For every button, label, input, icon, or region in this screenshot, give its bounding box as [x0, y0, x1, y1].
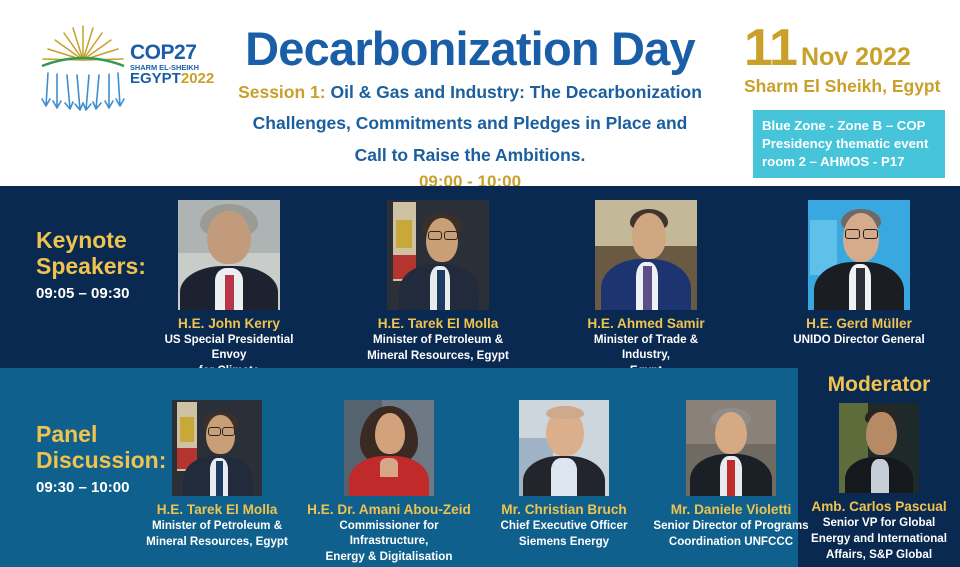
- keynote-speaker-card: H.E. Ahmed Samir Minister of Trade & Ind…: [570, 200, 722, 379]
- keynote-section-label: Keynote Speakers: 09:05 – 09:30: [36, 228, 146, 302]
- page-title: Decarbonization Day: [196, 24, 744, 73]
- panel-speaker-card: H.E. Dr. Amani Abou-Zeid Commissioner fo…: [300, 400, 478, 567]
- keynote-label-line-2: Speakers:: [36, 254, 146, 280]
- speaker-role-line: Minister of Petroleum &: [145, 519, 289, 534]
- keynote-speaker-card: H.E. Tarek El Molla Minister of Petroleu…: [362, 200, 514, 364]
- speaker-role-line: Siemens Energy: [490, 535, 638, 550]
- speaker-role-line: Senior VP for Global: [800, 516, 958, 531]
- speaker-photo: [839, 403, 919, 493]
- speaker-role-line: Minister of Trade & Industry,: [570, 333, 722, 363]
- speaker-name: H.E. Dr. Amani Abou-Zeid: [300, 502, 478, 518]
- speaker-photo: [808, 200, 910, 310]
- session-line-1: Session 1: Oil & Gas and Industry: The D…: [196, 81, 744, 104]
- speaker-role-line: Chief Executive Officer: [490, 519, 638, 534]
- speaker-role-line: US Special Presidential Envoy: [153, 333, 305, 363]
- speaker-photo: [172, 400, 262, 496]
- panel-speaker-card: H.E. Tarek El Molla Minister of Petroleu…: [145, 400, 289, 550]
- speaker-photo: [686, 400, 776, 496]
- keynote-time: 09:05 – 09:30: [36, 285, 146, 302]
- speaker-photo: [519, 400, 609, 496]
- speaker-role-line: UNIDO Director General: [783, 333, 935, 348]
- speaker-role-line: Affairs, S&P Global: [800, 548, 958, 563]
- date-location: Sharm El Sheikh, Egypt: [744, 76, 954, 97]
- venue-line-2: Presidency thematic event: [762, 135, 937, 153]
- speaker-photo: [387, 200, 489, 310]
- cop27-logo: COP27 SHARM EL-SHEIKH EGYPT2022: [34, 20, 209, 115]
- session-line-2: Challenges, Commitments and Pledges in P…: [196, 112, 744, 135]
- venue-line-3: room 2 – AHMOS - P17: [762, 153, 937, 171]
- speaker-name: Mr. Daniele Violetti: [652, 502, 810, 518]
- panel-speaker-card: Mr. Christian Bruch Chief Executive Offi…: [490, 400, 638, 550]
- speaker-role-line: Senior Director of Programs: [652, 519, 810, 534]
- moderator-title: Moderator: [798, 373, 960, 397]
- speaker-name: H.E. Tarek El Molla: [145, 502, 289, 518]
- speaker-photo: [178, 200, 280, 310]
- keynote-label-line-1: Keynote: [36, 228, 146, 254]
- speaker-role-line: Energy & Digitalisation: [300, 550, 478, 565]
- speaker-role-line: Energy and International: [800, 532, 958, 547]
- speaker-role-line: Minister of Petroleum &: [362, 333, 514, 348]
- speaker-photo: [595, 200, 697, 310]
- keynote-speaker-card: H.E. Gerd Müller UNIDO Director General: [783, 200, 935, 348]
- speaker-role-line: Mineral Resources, Egypt: [362, 349, 514, 364]
- speaker-name: H.E. Gerd Müller: [783, 316, 935, 332]
- speaker-role-line: Coordination UNFCCC: [652, 535, 810, 550]
- date-day: 11: [744, 19, 797, 77]
- cop27-sun-icon: [34, 20, 132, 115]
- speaker-name: Mr. Christian Bruch: [490, 502, 638, 518]
- date-month-year: Nov 2022: [801, 43, 911, 71]
- speaker-photo: [344, 400, 434, 496]
- session-line-3: Call to Raise the Ambitions.: [196, 144, 744, 167]
- speaker-name: H.E. John Kerry: [153, 316, 305, 332]
- speaker-name: Amb. Carlos Pascual: [800, 499, 958, 515]
- session-label: Session 1:: [238, 82, 326, 102]
- keynote-speaker-card: H.E. John Kerry US Special Presidential …: [153, 200, 305, 379]
- venue-box: Blue Zone - Zone B – COP Presidency them…: [753, 110, 945, 178]
- speaker-role-line: Commissioner for Infrastructure,: [300, 519, 478, 549]
- speaker-name: H.E. Ahmed Samir: [570, 316, 722, 332]
- panel-speaker-card: Mr. Daniele Violetti Senior Director of …: [652, 400, 810, 550]
- poster-header: COP27 SHARM EL-SHEIKH EGYPT2022 Decarbon…: [0, 0, 960, 186]
- speaker-name: H.E. Tarek El Molla: [362, 316, 514, 332]
- moderator-speaker-card: Amb. Carlos Pascual Senior VP for Global…: [800, 403, 958, 563]
- date-block: 11Nov 2022 Sharm El Sheikh, Egypt: [744, 22, 954, 97]
- speaker-role-line: Mineral Resources, Egypt: [145, 535, 289, 550]
- title-block: Decarbonization Day Session 1: Oil & Gas…: [196, 24, 744, 192]
- session-topic: Oil & Gas and Industry: The Decarbonizat…: [326, 82, 702, 102]
- venue-line-1: Blue Zone - Zone B – COP: [762, 117, 937, 135]
- decarbonization-day-poster: COP27 SHARM EL-SHEIKH EGYPT2022 Decarbon…: [0, 0, 960, 567]
